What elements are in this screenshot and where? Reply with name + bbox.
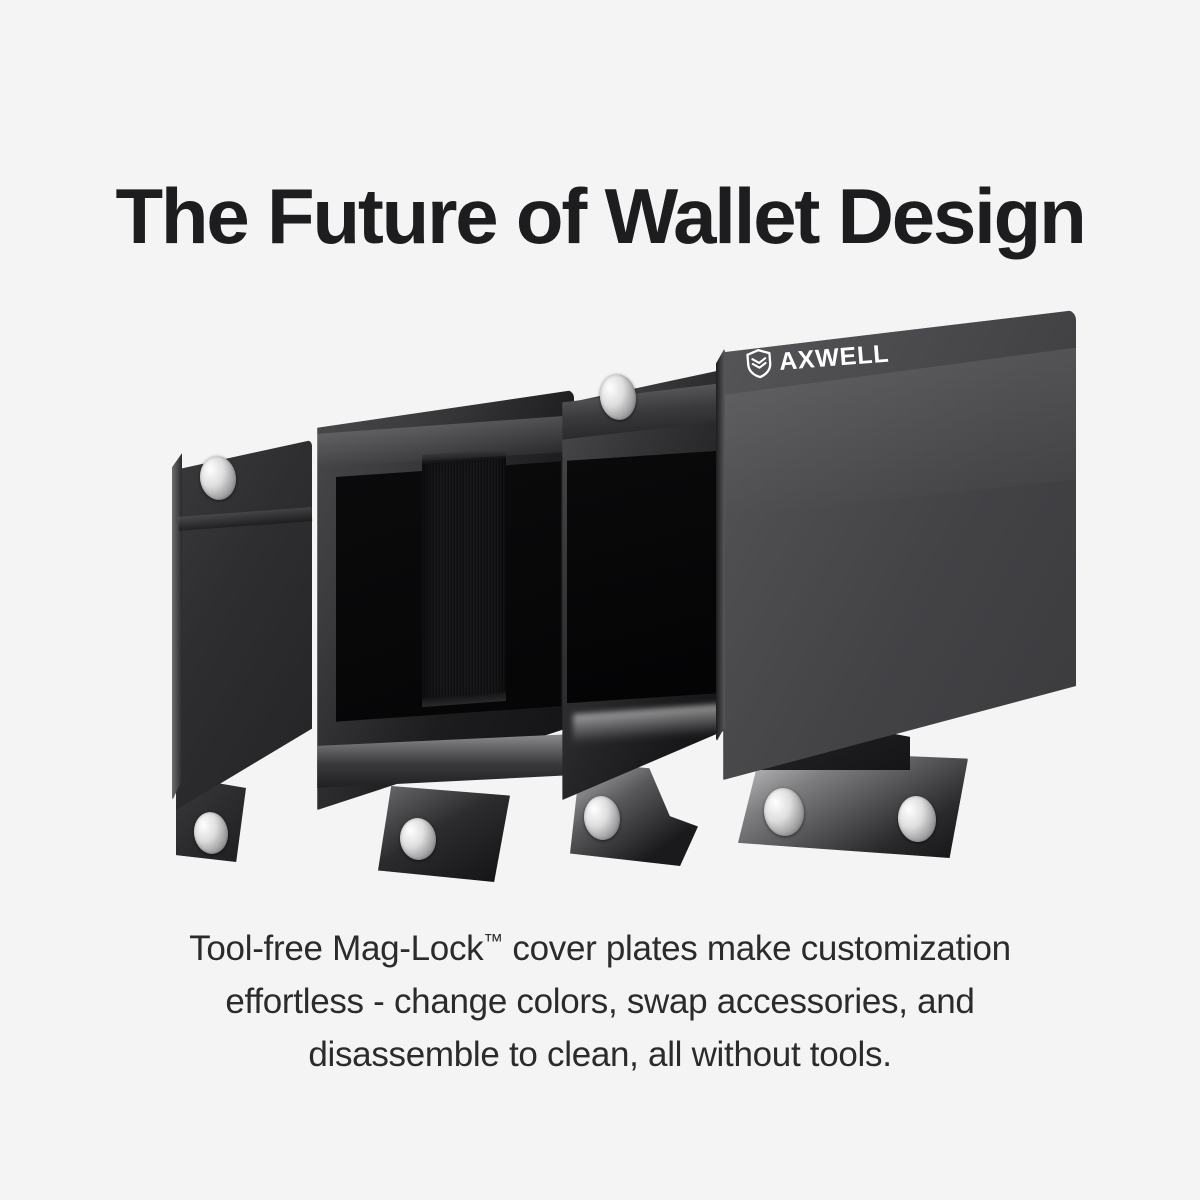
- wallet-layer-branded-cover-plate: AXWELL: [716, 310, 1076, 780]
- trademark-symbol: ™: [483, 930, 503, 952]
- plate-body: [172, 440, 312, 810]
- product-description: Tool-free Mag-Lock™ cover plates make cu…: [0, 922, 1200, 1082]
- brand-wordmark: AXWELL: [778, 341, 890, 374]
- plate-foot: [378, 786, 510, 882]
- description-line-1-a: Tool-free Mag-Lock: [189, 929, 483, 968]
- description-line-1-b: cover plates make customization: [503, 929, 1011, 968]
- shield-icon: [745, 348, 773, 380]
- description-line-2: effortless - change colors, swap accesso…: [0, 975, 1200, 1028]
- wallet-layer-cover-plate-left: [172, 440, 312, 810]
- product-hero-image: AXWELL: [0, 300, 1200, 860]
- description-line-3: disassemble to clean, all without tools.: [0, 1028, 1200, 1081]
- description-line-1: Tool-free Mag-Lock™ cover plates make cu…: [0, 922, 1200, 975]
- plate-edge: [716, 348, 725, 743]
- wallet-layer-strap-plate: [312, 390, 574, 810]
- page-title: The Future of Wallet Design: [0, 176, 1200, 258]
- marketing-card: The Future of Wallet Design: [0, 0, 1200, 1200]
- elastic-strap: [422, 449, 506, 707]
- plate-edge: [172, 446, 182, 801]
